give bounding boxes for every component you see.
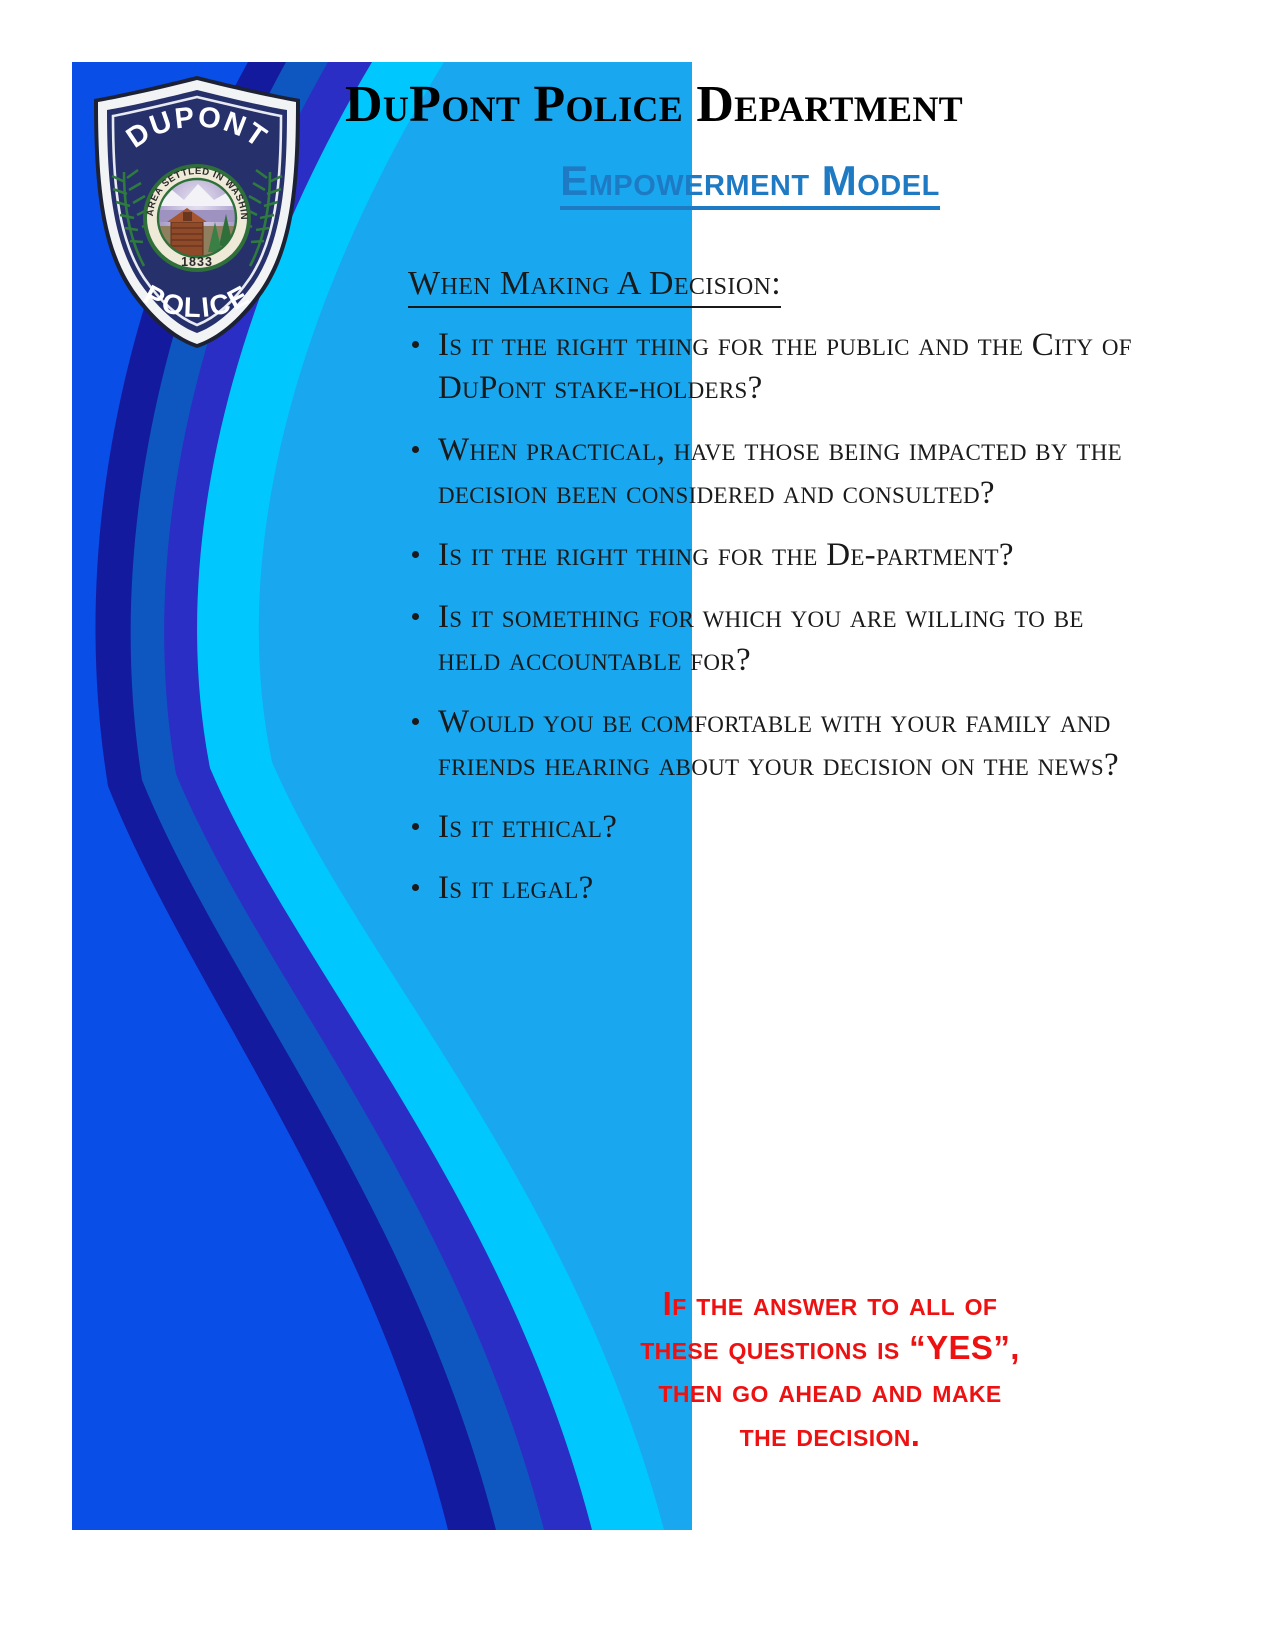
callout-line: the decision. (515, 1413, 1145, 1457)
bullet-icon (412, 718, 419, 725)
list-item: Is it ethical? (400, 806, 1150, 850)
page-subtitle-text: Empowerment Model (560, 158, 940, 210)
question-text: Would you be comfortable with your famil… (438, 704, 1119, 784)
bullet-icon (412, 551, 419, 558)
page-title: DuPont Police Department (345, 78, 1145, 133)
list-item: When practical, have those being impacte… (400, 429, 1150, 516)
callout-line: these questions is “YES”, (515, 1326, 1145, 1370)
body-content: When Making A Decision: Is it the right … (400, 264, 1160, 929)
answer-callout: If the answer to all of these questions … (515, 1282, 1145, 1456)
badge-year-text: 1833 (181, 255, 213, 269)
bullet-icon (412, 613, 419, 620)
list-item: Would you be comfortable with your famil… (400, 701, 1150, 788)
question-text: Is it something for which you are willin… (438, 599, 1084, 679)
question-text: Is it the right thing for the public and… (438, 327, 1132, 407)
decision-question-list: Is it the right thing for the public and… (400, 324, 1160, 911)
callout-line: then go ahead and make (515, 1369, 1145, 1413)
decision-lead-heading: When Making A Decision: (408, 264, 1160, 308)
question-text: Is it legal? (438, 870, 594, 906)
dupont-police-badge: DUPONT (88, 76, 306, 348)
list-item: Is it the right thing for the public and… (400, 324, 1150, 411)
list-item: Is it the right thing for the De-partmen… (400, 534, 1150, 578)
flyer-page: DUPONT (0, 0, 1275, 1650)
question-text: Is it the right thing for the De-partmen… (438, 537, 1014, 573)
question-text: When practical, have those being impacte… (438, 432, 1122, 512)
bullet-icon (412, 823, 419, 830)
list-item: Is it something for which you are willin… (400, 596, 1150, 683)
question-text: Is it ethical? (438, 809, 617, 845)
callout-line: If the answer to all of (515, 1282, 1145, 1326)
bullet-icon (412, 341, 419, 348)
bullet-icon (412, 884, 419, 891)
bullet-icon (412, 446, 419, 453)
list-item: Is it legal? (400, 867, 1150, 911)
decision-lead-text: When Making A Decision: (408, 264, 781, 308)
page-subtitle: Empowerment Model (400, 158, 1100, 210)
